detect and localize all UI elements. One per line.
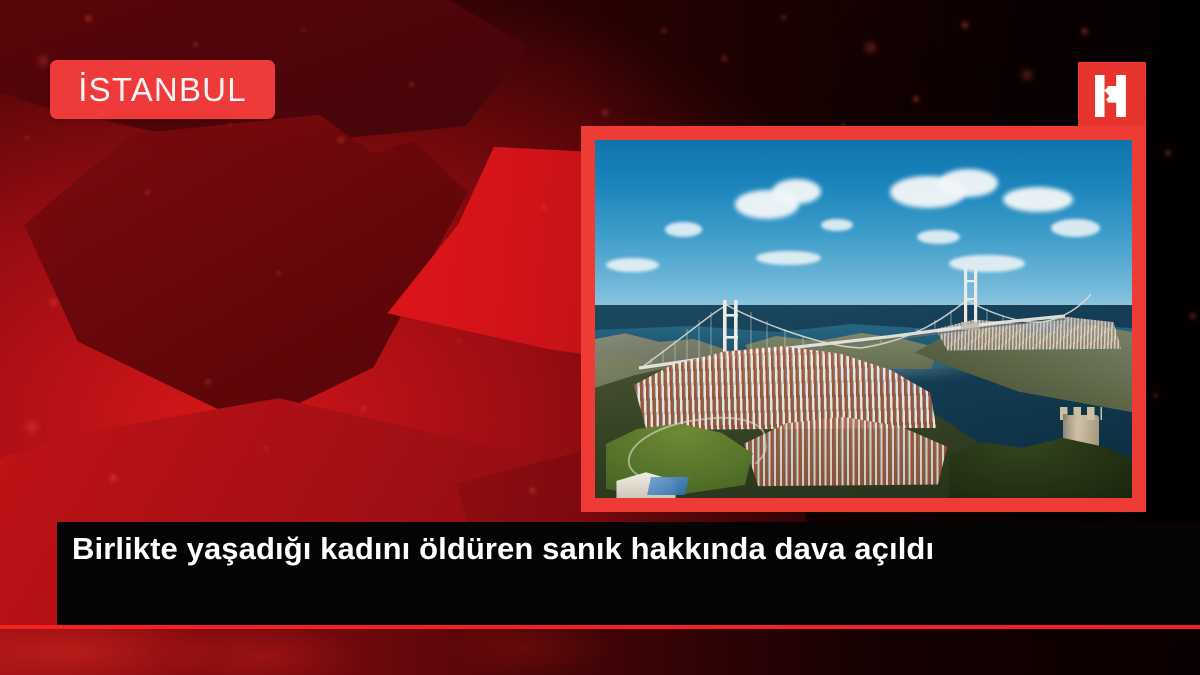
haberler-h-logo[interactable] [1078,62,1146,130]
news-photo-frame [581,126,1146,512]
headline-band: Birlikte yaşadığı kadını öldüren sanık h… [57,522,1200,627]
bottom-background-band [0,629,1200,675]
glass-roof-building [647,477,688,495]
city-badge-label: İSTANBUL [78,73,247,106]
news-card: İSTANBUL [0,0,1200,675]
city-badge: İSTANBUL [50,60,275,119]
page-title: Birlikte yaşadığı kadını öldüren sanık h… [72,529,1180,569]
bottom-band-texture [0,629,1200,675]
news-photo [595,140,1132,498]
